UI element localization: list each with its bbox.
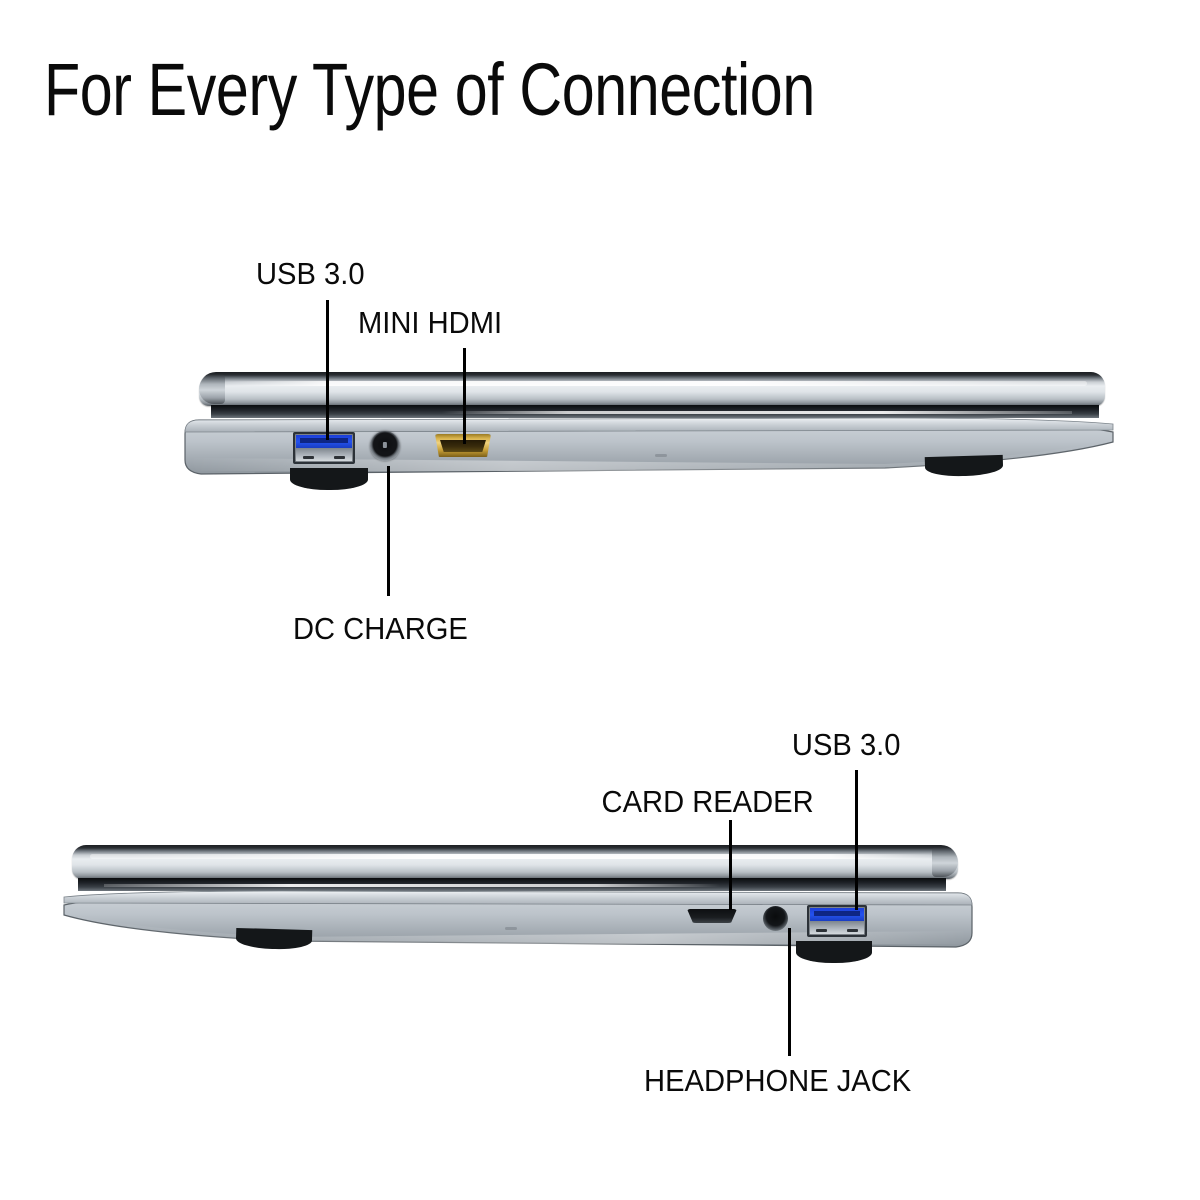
usb-contacts (300, 438, 347, 443)
leader-line-dc-charge (387, 466, 390, 596)
leader-line-card-reader (729, 820, 732, 910)
laptop-left-side-view (185, 372, 1115, 487)
laptop-right-side-view (62, 845, 972, 957)
usb-notches (303, 456, 346, 459)
leader-line-usb-top (326, 300, 329, 440)
base-top-rim (185, 418, 1113, 432)
usb-port-icon[interactable] (807, 905, 867, 937)
label-mini-hdmi: MINI HDMI (358, 305, 502, 341)
rubber-foot-left (290, 468, 368, 490)
usb-contacts (814, 911, 859, 916)
rubber-foot-right (796, 941, 872, 963)
usb-port-icon[interactable] (293, 432, 355, 464)
label-usb-3-top: USB 3.0 (256, 256, 365, 292)
usb-notches (816, 929, 857, 932)
leader-line-usb-bottom (855, 770, 858, 910)
dc-center-pin (383, 442, 387, 448)
chassis-screw-mark (655, 454, 667, 457)
leader-line-mini-hdmi (463, 348, 466, 444)
leader-line-headphone-jack (788, 928, 791, 1056)
label-headphone-jack: HEADPHONE JACK (644, 1063, 911, 1099)
usb-cavity (810, 921, 864, 934)
chassis-screw-mark (505, 927, 517, 930)
label-dc-charge: DC CHARGE (293, 611, 468, 647)
label-card-reader: CARD READER (602, 784, 814, 820)
dc-jack-icon[interactable] (370, 431, 400, 461)
headphone-jack-icon[interactable] (763, 906, 788, 931)
product-diagram-canvas: For Every Type of Connection (0, 0, 1200, 1200)
usb-cavity (296, 448, 352, 461)
page-title: For Every Type of Connection (44, 48, 815, 132)
card-slot-icon[interactable] (687, 909, 737, 923)
label-usb-3-bottom: USB 3.0 (792, 727, 901, 763)
base-top-rim (64, 891, 972, 905)
